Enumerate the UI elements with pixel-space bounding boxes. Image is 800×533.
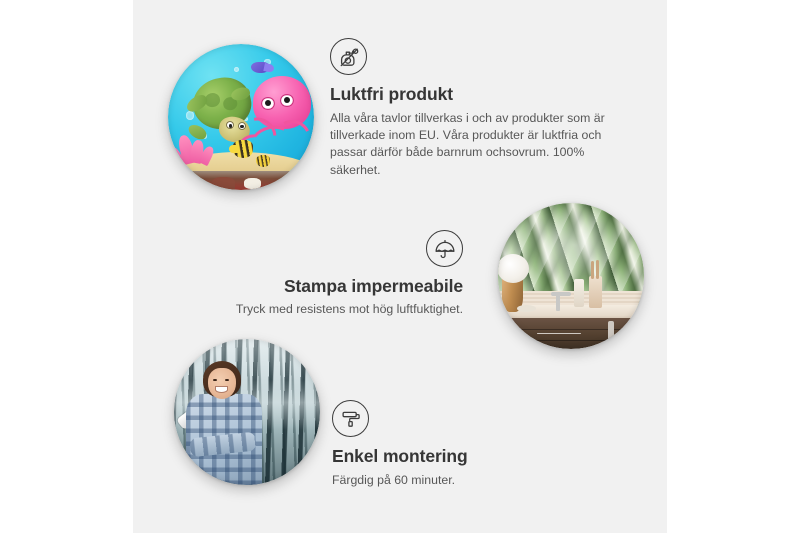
installer-forest-wallpaper-thumbnail [174,339,320,485]
drawer-handle-icon [537,333,581,334]
yellow-striped-fish-icon [256,155,271,167]
bubble-icon [186,111,195,120]
product-feature-banner: Luktfri produkt Alla våra tavlor tillver… [0,0,800,533]
diffuser-stick-icon [596,260,599,279]
faucet-spout-icon [551,292,571,296]
feature-easy-install: Enkel montering Färgdig på 60 minuter. [332,400,622,489]
soap-bottle-icon [574,279,584,307]
sea-floor-rocks [168,171,314,190]
feature-waterproof: Stampa impermeabile Tryck med resistens … [168,230,463,318]
diffuser-stick-icon [591,261,594,279]
smile [216,387,226,391]
paint-roller-icon [332,400,369,437]
rock-icon [212,177,235,190]
cabinet-handle-icon [608,321,613,340]
shell-icon [244,178,262,188]
faucet-icon [556,294,560,312]
wood-vanity-cabinet [507,318,644,349]
feature-title: Stampa impermeabile [168,276,463,297]
feature-description: Tryck med resistens mot hög luftfuktighe… [168,301,463,318]
white-flowers-icon [498,254,529,283]
feature-description: Färgdig på 60 minuter. [332,472,622,489]
feature-title: Enkel montering [332,446,622,467]
underwater-cartoon-wallpaper-thumbnail [168,44,314,190]
feature-title: Luktfri produkt [330,84,630,105]
umbrella-icon [426,230,463,267]
diffuser-bottle-icon [589,276,602,308]
bathroom-tropical-wallpaper-thumbnail [498,203,644,349]
face [208,368,236,399]
no-scent-perfume-bottle-icon [330,38,367,75]
feature-description: Alla våra tavlor tillverkas i och av pro… [330,110,630,179]
feature-odour-free: Luktfri produkt Alla våra tavlor tillver… [330,38,630,179]
fish-tail-icon [229,145,238,154]
